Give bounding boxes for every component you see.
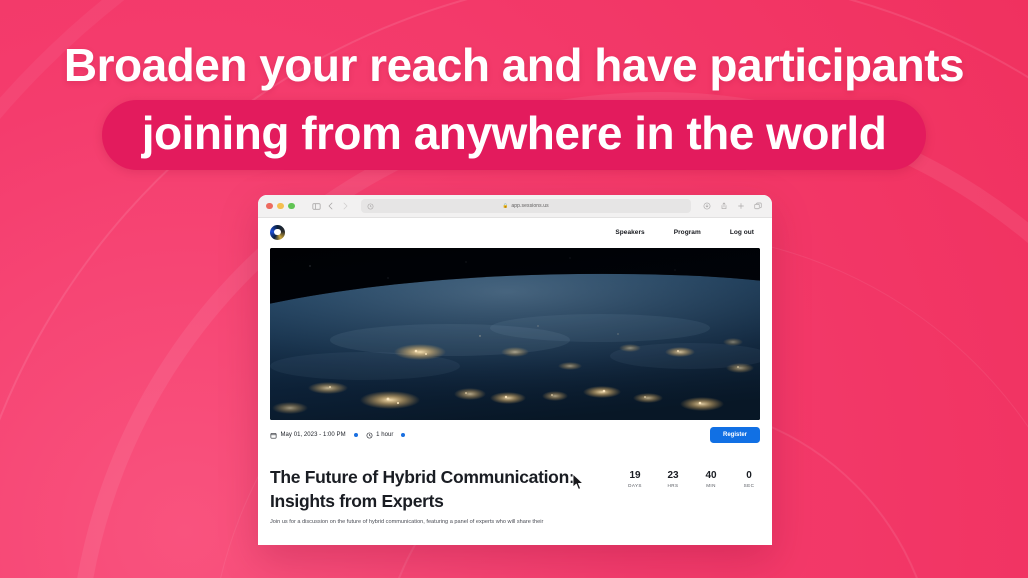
countdown-minutes: 40 MIN xyxy=(700,470,722,488)
countdown-minutes-value: 40 xyxy=(700,470,722,481)
calendar-icon xyxy=(270,426,277,444)
headline-pill-wrap: joining from anywhere in the world xyxy=(0,100,1028,170)
site-navigation-bar: Speakers Program Log out xyxy=(258,218,772,246)
nav-item-speakers[interactable]: Speakers xyxy=(615,229,644,236)
minimize-window-button[interactable] xyxy=(277,203,284,210)
countdown-hours-value: 23 xyxy=(662,470,684,481)
countdown-days: 19 DAYS xyxy=(624,470,646,488)
meta-separator-dot-2 xyxy=(401,433,405,437)
event-duration-text: 1 hour xyxy=(376,432,393,438)
window-controls[interactable] xyxy=(266,203,295,210)
countdown-hours: 23 HRS xyxy=(662,470,684,488)
earth-night-illustration xyxy=(270,248,760,420)
headline-line-1: Broaden your reach and have participants xyxy=(0,42,1028,88)
event-description: Join us for a discussion on the future o… xyxy=(270,518,760,526)
meta-separator-dot-1 xyxy=(354,433,358,437)
sidebar-toggle-icon[interactable] xyxy=(312,202,321,211)
event-title-row: The Future of Hybrid Communication: Insi… xyxy=(270,456,760,513)
browser-window: 🔒 app.sessions.us xyxy=(258,195,772,545)
forward-chevron-right-icon[interactable] xyxy=(341,202,349,210)
countdown-seconds: 0 SEC xyxy=(738,470,760,488)
event-title: The Future of Hybrid Communication: Insi… xyxy=(270,466,600,513)
register-button[interactable]: Register xyxy=(710,427,760,443)
countdown-days-value: 19 xyxy=(624,470,646,481)
promo-headline: Broaden your reach and have participants… xyxy=(0,42,1028,170)
countdown-hours-label: HRS xyxy=(662,483,684,488)
countdown-days-label: DAYS xyxy=(624,483,646,488)
event-date-item: May 01, 2023 - 1:00 PM xyxy=(270,426,346,444)
tab-overview-icon[interactable] xyxy=(754,202,762,210)
event-date-text: May 01, 2023 - 1:00 PM xyxy=(281,432,346,438)
lock-icon: 🔒 xyxy=(503,203,509,209)
nav-item-log-out[interactable]: Log out xyxy=(730,229,754,236)
countdown-seconds-value: 0 xyxy=(738,470,760,481)
back-chevron-left-icon[interactable] xyxy=(327,202,335,210)
downloads-icon[interactable] xyxy=(703,202,711,210)
event-duration-item: 1 hour xyxy=(366,426,394,444)
headline-line-2: joining from anywhere in the world xyxy=(142,110,887,156)
reload-icon[interactable] xyxy=(367,197,374,215)
countdown-timer: 19 DAYS 23 HRS 40 MIN 0 SEC xyxy=(624,466,760,488)
event-meta-bar: May 01, 2023 - 1:00 PM 1 hour Register xyxy=(270,420,760,450)
nav-links: Speakers Program Log out xyxy=(615,229,760,236)
url-bar[interactable]: 🔒 app.sessions.us xyxy=(361,199,692,213)
new-tab-plus-icon[interactable] xyxy=(737,202,745,210)
countdown-minutes-label: MIN xyxy=(700,483,722,488)
url-text: app.sessions.us xyxy=(511,203,548,209)
close-window-button[interactable] xyxy=(266,203,273,210)
maximize-window-button[interactable] xyxy=(288,203,295,210)
countdown-seconds-label: SEC xyxy=(738,483,760,488)
sessions-logo-icon[interactable] xyxy=(270,225,285,240)
nav-item-program[interactable]: Program xyxy=(674,229,701,236)
hero-image-earth-from-space xyxy=(270,248,760,420)
browser-toolbar: 🔒 app.sessions.us xyxy=(258,195,772,218)
toolbar-right-icons xyxy=(703,202,764,210)
logo-inner-hole xyxy=(274,229,280,235)
share-icon[interactable] xyxy=(720,202,728,210)
headline-pill: joining from anywhere in the world xyxy=(102,100,927,170)
clock-icon xyxy=(366,426,373,444)
